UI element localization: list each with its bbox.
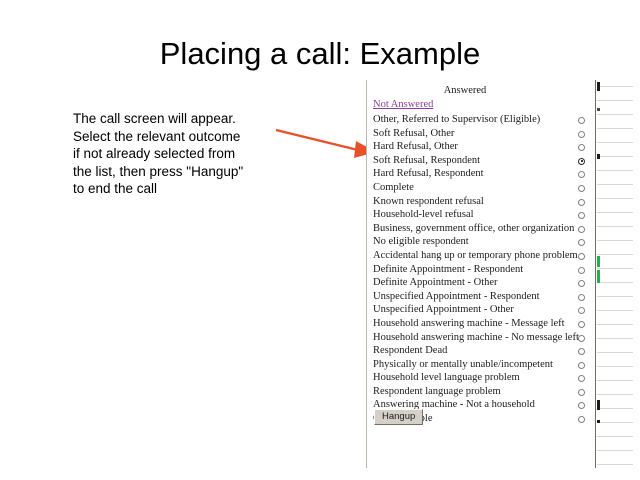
outcome-option-label: Respondent Dead — [373, 344, 447, 358]
outcome-radio-button[interactable] — [578, 117, 585, 124]
instruction-line: The call screen will appear. — [73, 110, 288, 128]
outcome-radio-button[interactable] — [578, 362, 585, 369]
background-window-sliver — [597, 80, 640, 468]
outcome-option-row[interactable]: Physically or mentally unable/incompeten… — [367, 358, 595, 372]
instruction-line: the list, then press "Hangup" — [73, 163, 288, 181]
instruction-line: Select the relevant outcome — [73, 128, 288, 146]
outcome-option-row[interactable]: No eligible respondent — [367, 235, 595, 249]
outcome-option-label: Other, Referred to Supervisor (Eligible) — [373, 113, 540, 127]
outcome-option-label: Known respondent refusal — [373, 195, 484, 209]
sliver-rule — [597, 324, 633, 325]
sliver-mark — [597, 420, 600, 423]
hangup-button-container: Hangup — [367, 409, 595, 429]
instruction-line: if not already selected from — [73, 145, 288, 163]
outcome-option-row[interactable]: Soft Refusal, Other — [367, 127, 595, 141]
sliver-rule — [597, 268, 633, 269]
sliver-mark — [597, 154, 600, 159]
sliver-rule — [597, 100, 633, 101]
sliver-rule — [597, 296, 633, 297]
outcome-radio-button[interactable] — [578, 321, 585, 328]
outcome-radio-button[interactable] — [578, 158, 585, 165]
sliver-rule — [597, 86, 633, 87]
sliver-rule — [597, 170, 633, 171]
outcome-option-row[interactable]: Household answering machine - No message… — [367, 331, 595, 345]
outcome-option-row[interactable]: Respondent language problem — [367, 385, 595, 399]
outcome-radio-button[interactable] — [578, 348, 585, 355]
outcome-option-label: Hard Refusal, Other — [373, 140, 458, 154]
outcome-option-row[interactable]: Household level language problem — [367, 371, 595, 385]
sliver-mark — [597, 256, 600, 267]
sliver-rule — [597, 380, 633, 381]
instruction-text-block: The call screen will appear. Select the … — [73, 110, 288, 198]
outcome-radio-button[interactable] — [578, 212, 585, 219]
outcome-option-row[interactable]: Definite Appointment - Other — [367, 276, 595, 290]
sliver-rule — [597, 394, 633, 395]
sliver-mark — [597, 400, 600, 410]
outcome-radio-button[interactable] — [578, 253, 585, 260]
outcome-option-label: Household-level refusal — [373, 208, 474, 222]
sliver-rule — [597, 128, 633, 129]
outcome-radio-button[interactable] — [578, 226, 585, 233]
outcome-option-row[interactable]: Hard Refusal, Respondent — [367, 167, 595, 181]
outcome-option-row[interactable]: Business, government office, other organ… — [367, 222, 595, 236]
outcome-option-label: Physically or mentally unable/incompeten… — [373, 358, 553, 372]
sliver-rule — [597, 352, 633, 353]
outcome-radio-button[interactable] — [578, 267, 585, 274]
outcome-option-label: Hard Refusal, Respondent — [373, 167, 484, 181]
outcome-option-label: Complete — [373, 181, 414, 195]
sliver-rule — [597, 450, 633, 451]
sliver-rule — [597, 114, 633, 115]
outcome-option-label: Accidental hang up or temporary phone pr… — [373, 249, 578, 263]
outcome-option-label: Soft Refusal, Other — [373, 127, 454, 141]
sliver-rule — [597, 436, 633, 437]
sliver-rule — [597, 310, 633, 311]
outcome-option-row[interactable]: Household answering machine - Message le… — [367, 317, 595, 331]
outcome-option-row[interactable]: Definite Appointment - Respondent — [367, 263, 595, 277]
sliver-rule — [597, 184, 633, 185]
instruction-line: to end the call — [73, 180, 288, 198]
sliver-rule — [597, 366, 633, 367]
outcome-radio-button[interactable] — [578, 294, 585, 301]
outcome-radio-button[interactable] — [578, 144, 585, 151]
sliver-rule — [597, 156, 633, 157]
outcome-option-row[interactable]: Complete — [367, 181, 595, 195]
hangup-button[interactable]: Hangup — [374, 409, 423, 425]
outcome-option-row[interactable]: Other, Referred to Supervisor (Eligible) — [367, 113, 595, 127]
outcome-option-label: Unspecified Appointment - Other — [373, 303, 514, 317]
sliver-rule — [597, 240, 633, 241]
outcome-option-label: Household answering machine - No message… — [373, 331, 579, 345]
sliver-rule — [597, 464, 633, 465]
outcome-option-row[interactable]: Hard Refusal, Other — [367, 140, 595, 154]
page-title: Placing a call: Example — [0, 36, 640, 72]
outcome-option-label: Household answering machine - Message le… — [373, 317, 565, 331]
outcome-option-row[interactable]: Known respondent refusal — [367, 195, 595, 209]
outcome-radio-button[interactable] — [578, 335, 585, 342]
sliver-rule — [597, 422, 633, 423]
sliver-rule — [597, 226, 633, 227]
outcome-radio-button[interactable] — [578, 307, 585, 314]
outcome-option-label: Respondent language problem — [373, 385, 501, 399]
outcome-option-label: Business, government office, other organ… — [373, 222, 574, 236]
outcome-radio-button[interactable] — [578, 199, 585, 206]
outcome-radio-list[interactable]: Other, Referred to Supervisor (Eligible)… — [367, 113, 595, 426]
outcome-radio-button[interactable] — [578, 389, 585, 396]
sliver-mark — [597, 270, 600, 283]
outcome-radio-button[interactable] — [578, 185, 585, 192]
outcome-radio-button[interactable] — [578, 375, 585, 382]
sliver-rule — [597, 212, 633, 213]
outcome-option-label: Definite Appointment - Other — [373, 276, 498, 290]
sliver-rule — [597, 338, 633, 339]
sliver-rule — [597, 198, 633, 199]
sliver-mark — [597, 82, 600, 91]
outcome-option-row[interactable]: Soft Refusal, Respondent — [367, 154, 595, 168]
outcome-radio-button[interactable] — [578, 280, 585, 287]
sliver-rule — [597, 254, 633, 255]
outcome-option-row[interactable]: Unspecified Appointment - Other — [367, 303, 595, 317]
sliver-rule — [597, 282, 633, 283]
sliver-rule — [597, 408, 633, 409]
sliver-rule — [597, 142, 633, 143]
outcome-option-label: Household level language problem — [373, 371, 520, 385]
outcome-option-label: Definite Appointment - Respondent — [373, 263, 523, 277]
outcome-option-row[interactable]: Household-level refusal — [367, 208, 595, 222]
outcome-option-row[interactable]: Accidental hang up or temporary phone pr… — [367, 249, 595, 263]
outcome-option-label: Soft Refusal, Respondent — [373, 154, 480, 168]
outcome-option-label: No eligible respondent — [373, 235, 469, 249]
call-screen-screenshot[interactable]: Answered Not Answered Other, Referred to… — [366, 80, 596, 468]
outcome-radio-button[interactable] — [578, 239, 585, 246]
outcome-radio-button[interactable] — [578, 131, 585, 138]
outcome-radio-button[interactable] — [578, 171, 585, 178]
answered-header-label: Answered — [367, 85, 563, 96]
outcome-option-row[interactable]: Respondent Dead — [367, 344, 595, 358]
not-answered-link[interactable]: Not Answered — [373, 99, 433, 110]
outcome-option-label: Unspecified Appointment - Respondent — [373, 290, 540, 304]
sliver-mark — [597, 108, 600, 111]
outcome-option-row[interactable]: Unspecified Appointment - Respondent — [367, 290, 595, 304]
